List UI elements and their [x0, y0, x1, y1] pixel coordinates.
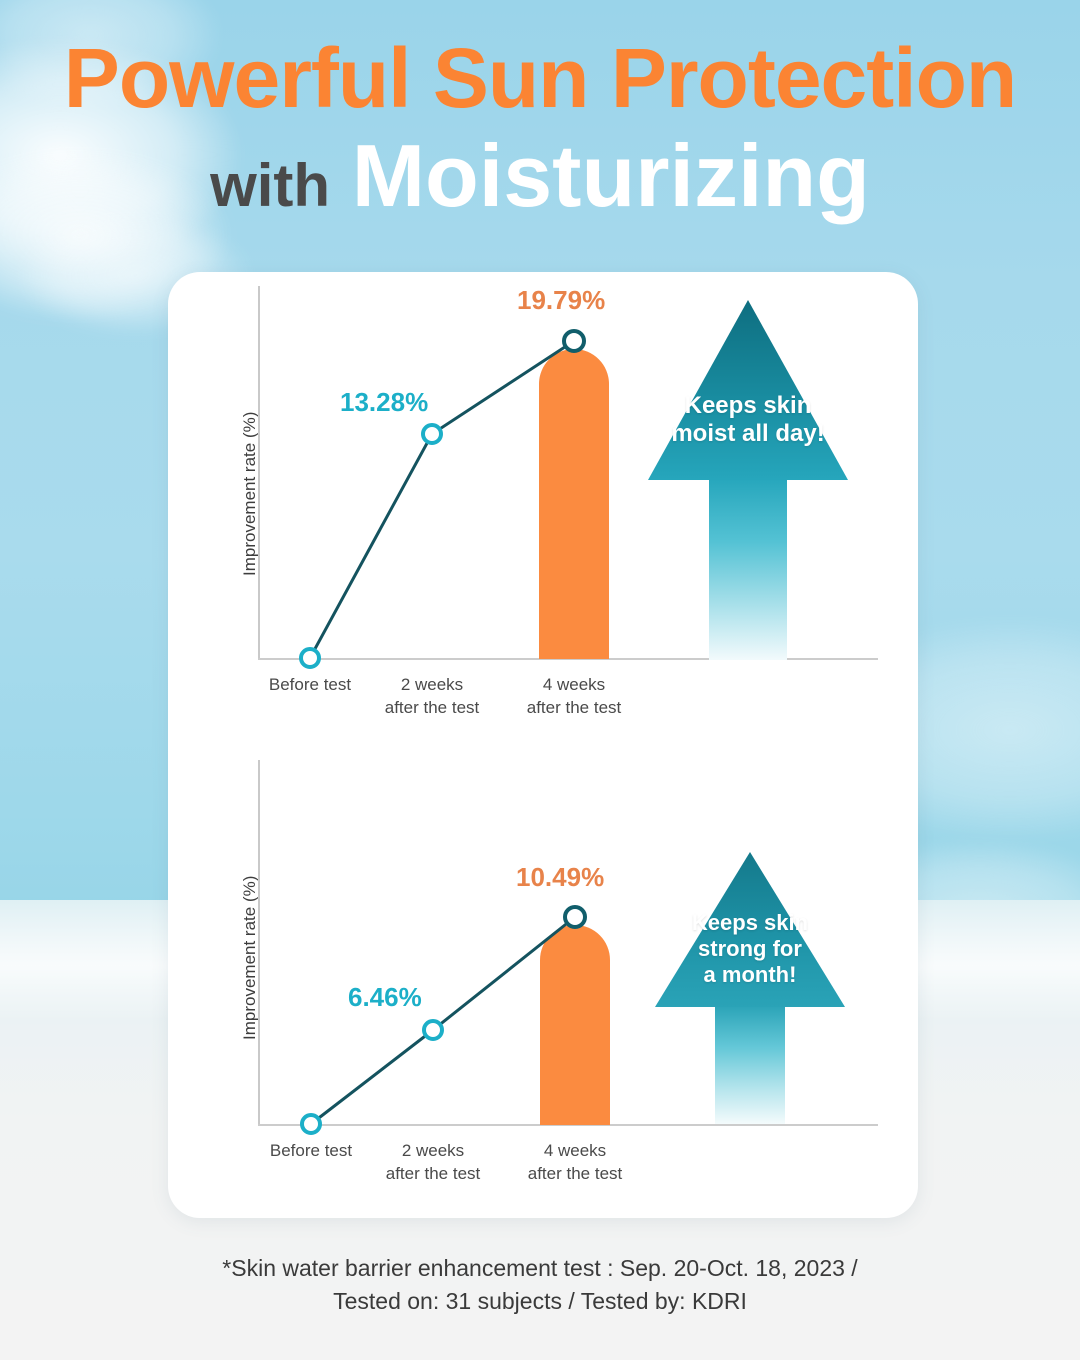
- headline-block: Powerful Sun Protection with Moisturizin…: [0, 34, 1080, 223]
- chart2-value-label-4weeks: 10.49%: [516, 862, 604, 893]
- headline-with-word: with: [210, 152, 330, 219]
- headline-line-1: Powerful Sun Protection: [0, 34, 1080, 122]
- arrow-shaft: [715, 1005, 785, 1124]
- arrow-shaft: [709, 478, 787, 660]
- callout-arrow-strong: Keeps skin strong for a month!: [655, 852, 845, 1124]
- headline-moisturizing-word: Moisturizing: [352, 126, 870, 225]
- chart2-point-2weeks: [422, 1019, 444, 1041]
- chart2-xtick-4weeks: 4 weeks after the test: [505, 1140, 645, 1186]
- callout-arrow-strong-text: Keeps skin strong for a month!: [655, 910, 845, 988]
- callout-arrow-moist: Keeps skin moist all day!: [648, 300, 848, 660]
- chart1-point-2weeks: [421, 423, 443, 445]
- chart2-point-4weeks: [563, 905, 587, 929]
- chart2-value-label-2weeks: 6.46%: [348, 982, 422, 1013]
- chart1-value-label-4weeks: 19.79%: [517, 285, 605, 316]
- footnote: *Skin water barrier enhancement test : S…: [0, 1252, 1080, 1319]
- chart2-xtick-2weeks: 2 weeks after the test: [363, 1140, 503, 1186]
- chart1-xtick-2weeks: 2 weeks after the test: [362, 674, 502, 720]
- arrow-up-icon: [648, 300, 848, 480]
- headline-line-2: with Moisturizing: [0, 130, 1080, 222]
- chart1-point-before: [299, 647, 321, 669]
- chart1-xtick-before: Before test: [240, 674, 380, 697]
- footnote-line-2: Tested on: 31 subjects / Tested by: KDRI: [0, 1285, 1080, 1318]
- chart1-point-4weeks: [562, 329, 586, 353]
- chart1-value-label-2weeks: 13.28%: [340, 387, 428, 418]
- chart1-xtick-4weeks: 4 weeks after the test: [504, 674, 644, 720]
- chart2-point-before: [300, 1113, 322, 1135]
- callout-arrow-moist-text: Keeps skin moist all day!: [648, 392, 848, 449]
- footnote-line-1: *Skin water barrier enhancement test : S…: [0, 1252, 1080, 1285]
- chart2-xtick-before: Before test: [241, 1140, 381, 1163]
